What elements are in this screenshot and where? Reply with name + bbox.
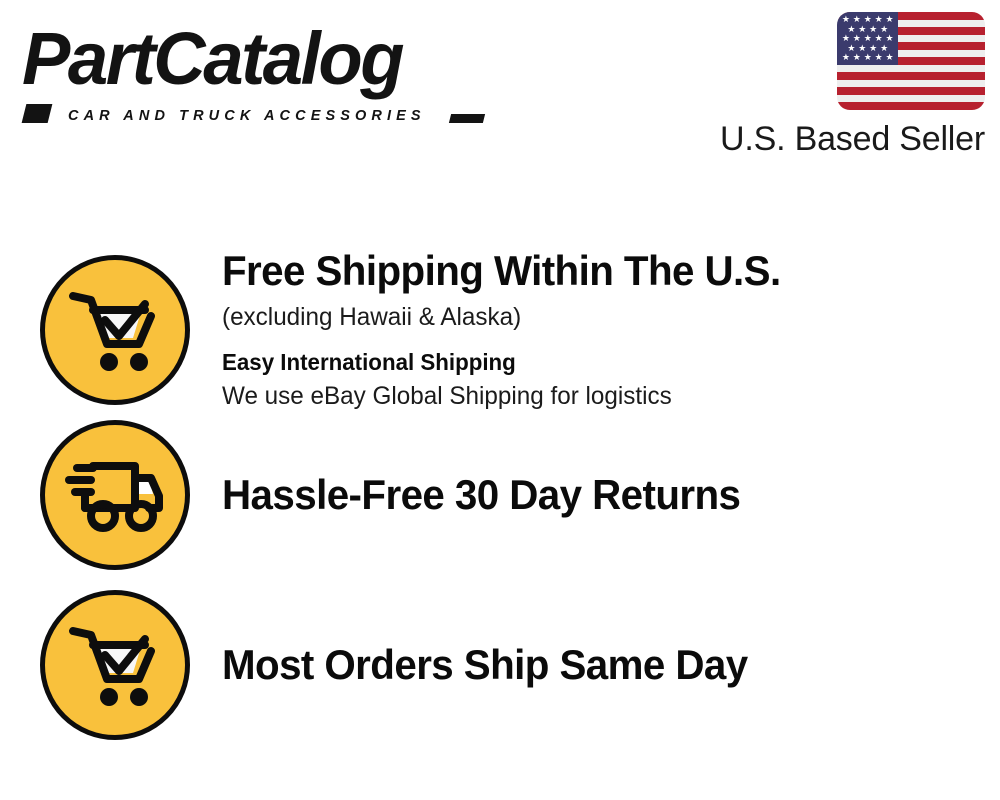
feature-subline: (excluding Hawaii & Alaska): [222, 300, 786, 334]
promo-banner: PartCatalog CAR AND TRUCK ACCESSORIES ★ …: [0, 0, 1000, 800]
flag-canton: ★ ★ ★ ★ ★ ★ ★ ★ ★ ★ ★ ★ ★ ★ ★ ★ ★ ★ ★ ★: [837, 12, 898, 65]
logo-wordmark: PartCatalog: [22, 22, 402, 96]
shopping-cart-check-icon: [40, 255, 190, 405]
feature-headline: Most Orders Ship Same Day: [222, 640, 748, 690]
feature-text-block: Most Orders Ship Same Day: [222, 640, 770, 690]
feature-row-free-shipping: Free Shipping Within The U.S. (excluding…: [40, 246, 804, 413]
feature-headline: Hassle-Free 30 Day Returns: [222, 470, 740, 520]
us-flag-icon: ★ ★ ★ ★ ★ ★ ★ ★ ★ ★ ★ ★ ★ ★ ★ ★ ★ ★ ★ ★: [837, 12, 985, 110]
feature-row-returns: Hassle-Free 30 Day Returns: [40, 420, 762, 570]
delivery-truck-icon: [40, 420, 190, 570]
brand-logo: PartCatalog CAR AND TRUCK ACCESSORIES: [22, 22, 492, 117]
feature-row-same-day: Most Orders Ship Same Day: [40, 590, 770, 740]
feature-subline-secondary: We use eBay Global Shipping for logistic…: [222, 379, 786, 413]
logo-tagline: CAR AND TRUCK ACCESSORIES: [68, 108, 426, 124]
seller-badge: ★ ★ ★ ★ ★ ★ ★ ★ ★ ★ ★ ★ ★ ★ ★ ★ ★ ★ ★ ★: [715, 12, 985, 159]
feature-text-block: Free Shipping Within The U.S. (excluding…: [222, 246, 804, 413]
feature-subline-strong: Easy International Shipping: [222, 346, 786, 378]
logo-rule-left-icon: [22, 104, 53, 123]
logo-rule-right-icon: [449, 114, 485, 123]
feature-headline: Free Shipping Within The U.S.: [222, 246, 781, 296]
feature-text-block: Hassle-Free 30 Day Returns: [222, 470, 762, 520]
seller-label: U.S. Based Seller: [715, 119, 985, 159]
shopping-cart-check-icon: [40, 590, 190, 740]
